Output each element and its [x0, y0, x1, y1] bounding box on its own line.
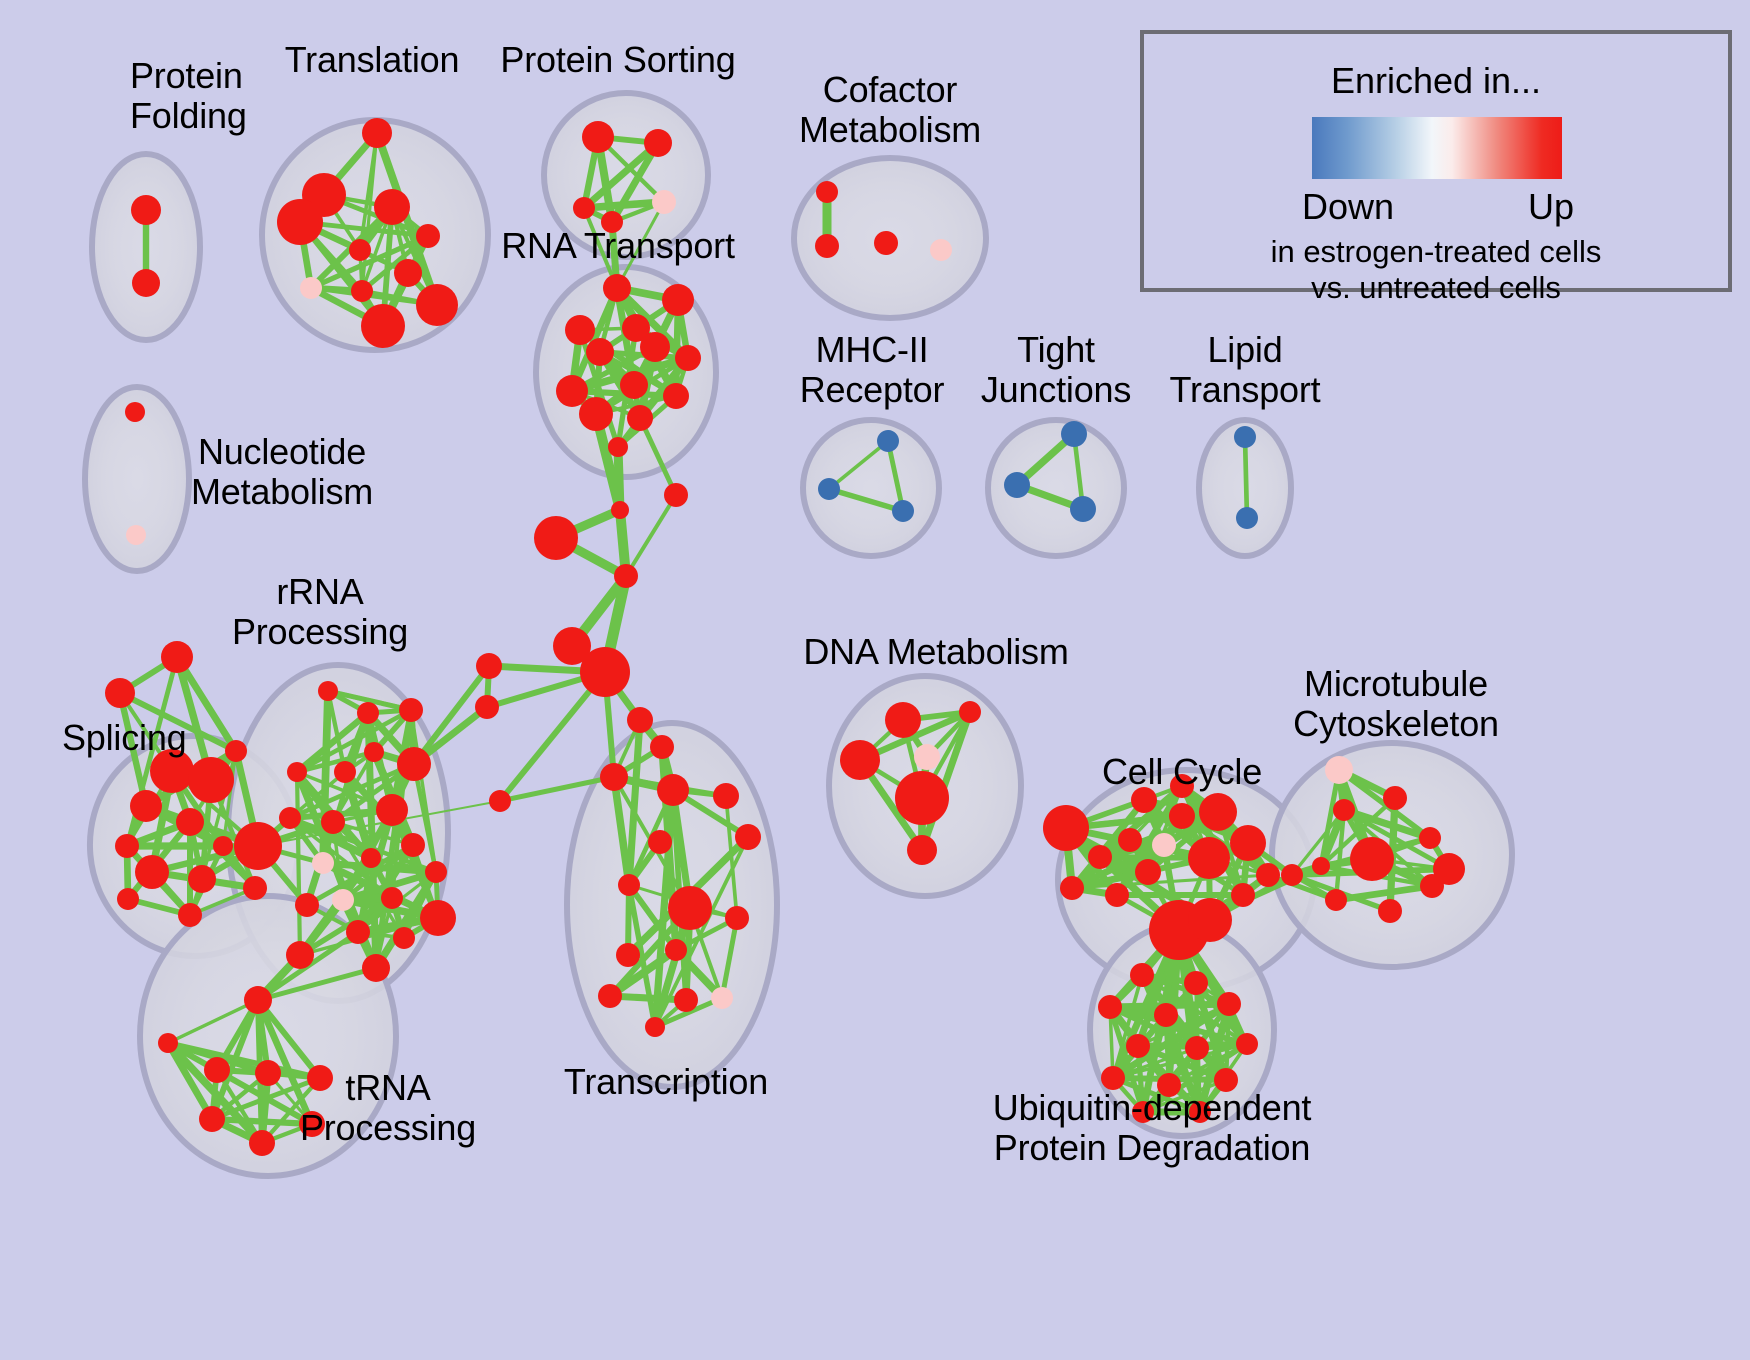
- network-node-rna-transport[interactable]: [675, 345, 701, 371]
- network-node-cell-cycle[interactable]: [1188, 837, 1230, 879]
- network-node-transcription[interactable]: [618, 874, 640, 896]
- network-node-splicing[interactable]: [234, 822, 282, 870]
- cluster-label-microtubule-cytoskeleton: Microtubule Cytoskeleton: [1293, 664, 1499, 745]
- network-node-tight-junctions[interactable]: [1061, 421, 1087, 447]
- network-node-transcription[interactable]: [657, 774, 689, 806]
- cluster-label-splicing: Splicing: [62, 718, 186, 758]
- network-node-rrna-processing[interactable]: [332, 889, 354, 911]
- network-node-ubiquitin-protein-degradation[interactable]: [1130, 963, 1154, 987]
- network-node-transcription[interactable]: [674, 988, 698, 1012]
- network-node-transcription[interactable]: [598, 984, 622, 1008]
- network-node-mhc-ii-receptor[interactable]: [892, 500, 914, 522]
- cluster-label-tight-junctions: Tight Junctions: [981, 330, 1131, 411]
- cluster-label-protein-sorting: Protein Sorting: [500, 40, 735, 80]
- network-node-lipid-transport[interactable]: [1234, 426, 1256, 448]
- network-node-rrna-processing[interactable]: [286, 941, 314, 969]
- network-node-bridge[interactable]: [534, 516, 578, 560]
- network-node-tight-junctions[interactable]: [1070, 496, 1096, 522]
- cluster-label-mhc-ii-receptor: MHC-II Receptor: [800, 330, 944, 411]
- network-node-translation[interactable]: [394, 259, 422, 287]
- network-node-cofactor-metabolism[interactable]: [816, 181, 838, 203]
- network-node-transcription[interactable]: [648, 830, 672, 854]
- network-figure: Protein FoldingTranslationProtein Sortin…: [0, 0, 1750, 1360]
- network-node-splicing[interactable]: [115, 834, 139, 858]
- network-node-microtubule-cytoskeleton[interactable]: [1350, 837, 1394, 881]
- network-node-microtubule-cytoskeleton[interactable]: [1333, 799, 1355, 821]
- network-node-bridge[interactable]: [475, 695, 499, 719]
- network-node-bridge[interactable]: [489, 790, 511, 812]
- network-node-translation[interactable]: [277, 199, 323, 245]
- network-node-translation[interactable]: [416, 284, 458, 326]
- cluster-label-cofactor-metabolism: Cofactor Metabolism: [799, 70, 981, 151]
- network-node-cell-cycle[interactable]: [1152, 833, 1176, 857]
- network-node-protein-sorting[interactable]: [652, 190, 676, 214]
- network-node-protein-folding[interactable]: [132, 269, 160, 297]
- network-node-trna-processing[interactable]: [244, 986, 272, 1014]
- network-node-cell-cycle[interactable]: [1043, 805, 1089, 851]
- network-node-splicing[interactable]: [188, 757, 234, 803]
- network-node-splicing[interactable]: [178, 903, 202, 927]
- network-node-splicing[interactable]: [188, 865, 216, 893]
- network-node-mhc-ii-receptor[interactable]: [818, 478, 840, 500]
- network-node-cell-cycle[interactable]: [1088, 845, 1112, 869]
- network-node-transcription[interactable]: [725, 906, 749, 930]
- legend-box: Enriched in... Down Up in estrogen-treat…: [1140, 30, 1732, 292]
- network-node-translation[interactable]: [362, 118, 392, 148]
- network-node-rna-transport[interactable]: [556, 375, 588, 407]
- network-node-rrna-processing[interactable]: [318, 681, 338, 701]
- network-node-transcription[interactable]: [713, 783, 739, 809]
- network-node-rrna-processing[interactable]: [425, 861, 447, 883]
- network-node-transcription[interactable]: [600, 763, 628, 791]
- network-node-splicing[interactable]: [117, 888, 139, 910]
- network-node-translation[interactable]: [361, 304, 405, 348]
- cluster-label-rrna-processing: rRNA Processing: [232, 572, 408, 653]
- network-node-cell-cycle[interactable]: [1199, 793, 1237, 831]
- network-node-cell-cycle[interactable]: [1105, 883, 1129, 907]
- network-node-splicing[interactable]: [225, 740, 247, 762]
- network-node-rrna-processing[interactable]: [361, 848, 381, 868]
- network-node-translation[interactable]: [374, 189, 410, 225]
- network-node-splicing[interactable]: [161, 641, 193, 673]
- network-node-ubiquitin-protein-degradation[interactable]: [1217, 992, 1241, 1016]
- network-node-rrna-processing[interactable]: [364, 742, 384, 762]
- network-node-dna-metabolism[interactable]: [840, 740, 880, 780]
- network-node-rrna-processing[interactable]: [312, 852, 334, 874]
- cluster-label-protein-folding: Protein Folding: [130, 56, 247, 137]
- network-node-rrna-processing[interactable]: [381, 887, 403, 909]
- network-node-bridge[interactable]: [614, 564, 638, 588]
- network-node-translation[interactable]: [416, 224, 440, 248]
- network-node-microtubule-cytoskeleton[interactable]: [1419, 827, 1441, 849]
- network-node-splicing[interactable]: [105, 678, 135, 708]
- network-node-rrna-processing[interactable]: [397, 747, 431, 781]
- network-node-cell-cycle[interactable]: [1169, 803, 1195, 829]
- network-node-bridge[interactable]: [580, 647, 630, 697]
- network-node-dna-metabolism[interactable]: [885, 702, 921, 738]
- network-node-microtubule-cytoskeleton[interactable]: [1383, 786, 1407, 810]
- network-node-ubiquitin-protein-degradation[interactable]: [1184, 971, 1208, 995]
- network-node-rrna-processing[interactable]: [401, 833, 425, 857]
- network-node-bridge[interactable]: [611, 501, 629, 519]
- network-node-translation[interactable]: [351, 280, 373, 302]
- network-node-protein-sorting[interactable]: [644, 129, 672, 157]
- cluster-label-trna-processing: tRNA Processing: [300, 1068, 476, 1149]
- cluster-label-lipid-transport: Lipid Transport: [1170, 330, 1321, 411]
- legend-title: Enriched in...: [1144, 60, 1728, 102]
- network-node-rna-transport[interactable]: [579, 397, 613, 431]
- network-node-microtubule-cytoskeleton[interactable]: [1378, 899, 1402, 923]
- network-node-transcription[interactable]: [668, 886, 712, 930]
- legend-caption-line-1: in estrogen-treated cells: [1144, 234, 1728, 270]
- cluster-label-nucleotide-metabolism: Nucleotide Metabolism: [191, 432, 373, 513]
- network-node-transcription[interactable]: [627, 707, 653, 733]
- network-node-nucleotide-metabolism[interactable]: [125, 402, 145, 422]
- network-node-rrna-processing[interactable]: [420, 900, 456, 936]
- cluster-label-rna-transport: RNA Transport: [501, 226, 735, 266]
- network-node-mhc-ii-receptor[interactable]: [877, 430, 899, 452]
- network-node-splicing[interactable]: [243, 876, 267, 900]
- network-node-translation[interactable]: [349, 239, 371, 261]
- network-node-cell-cycle[interactable]: [1256, 863, 1280, 887]
- network-node-trna-processing[interactable]: [158, 1033, 178, 1053]
- network-node-rna-transport[interactable]: [586, 338, 614, 366]
- network-node-dna-metabolism[interactable]: [959, 701, 981, 723]
- network-node-cell-cycle[interactable]: [1118, 828, 1142, 852]
- network-node-microtubule-cytoskeleton[interactable]: [1312, 857, 1330, 875]
- legend-low-label: Down: [1302, 186, 1394, 228]
- network-node-ubiquitin-protein-degradation[interactable]: [1098, 995, 1122, 1019]
- network-node-rna-transport[interactable]: [603, 274, 631, 302]
- network-node-transcription[interactable]: [711, 987, 733, 1009]
- network-node-microtubule-cytoskeleton[interactable]: [1325, 756, 1353, 784]
- network-node-lipid-transport[interactable]: [1236, 507, 1258, 529]
- network-node-rna-transport[interactable]: [640, 332, 670, 362]
- network-node-cell-cycle[interactable]: [1188, 898, 1232, 942]
- network-node-rrna-processing[interactable]: [346, 920, 370, 944]
- network-node-tight-junctions[interactable]: [1004, 472, 1030, 498]
- network-node-splicing[interactable]: [176, 808, 204, 836]
- network-node-dna-metabolism[interactable]: [895, 771, 949, 825]
- network-edge: [1245, 437, 1247, 518]
- network-node-ubiquitin-protein-degradation[interactable]: [1236, 1033, 1258, 1055]
- network-node-ubiquitin-protein-degradation[interactable]: [1185, 1036, 1209, 1060]
- network-node-rna-transport[interactable]: [663, 383, 689, 409]
- network-node-dna-metabolism[interactable]: [914, 744, 940, 770]
- network-node-splicing[interactable]: [213, 836, 233, 856]
- network-node-rna-transport[interactable]: [662, 284, 694, 316]
- network-node-rrna-processing[interactable]: [399, 698, 423, 722]
- network-node-bridge[interactable]: [664, 483, 688, 507]
- network-node-rna-transport[interactable]: [627, 405, 653, 431]
- legend-caption-line-2: vs. untreated cells: [1144, 270, 1728, 306]
- network-node-rna-transport[interactable]: [565, 315, 595, 345]
- network-node-cell-cycle[interactable]: [1135, 859, 1161, 885]
- legend-high-label: Up: [1528, 186, 1574, 228]
- cluster-label-transcription: Transcription: [564, 1062, 768, 1102]
- network-node-transcription[interactable]: [650, 735, 674, 759]
- cluster-label-translation: Translation: [285, 40, 460, 80]
- network-node-splicing[interactable]: [130, 790, 162, 822]
- network-node-rrna-processing[interactable]: [321, 810, 345, 834]
- network-node-cofactor-metabolism[interactable]: [874, 231, 898, 255]
- network-node-splicing[interactable]: [135, 855, 169, 889]
- network-node-cofactor-metabolism[interactable]: [930, 239, 952, 261]
- network-node-microtubule-cytoskeleton[interactable]: [1281, 864, 1303, 886]
- network-node-dna-metabolism[interactable]: [907, 835, 937, 865]
- network-node-ubiquitin-protein-degradation[interactable]: [1126, 1034, 1150, 1058]
- network-node-cofactor-metabolism[interactable]: [815, 234, 839, 258]
- network-node-rrna-processing[interactable]: [357, 702, 379, 724]
- network-node-transcription[interactable]: [616, 943, 640, 967]
- network-node-transcription[interactable]: [645, 1017, 665, 1037]
- network-node-transcription[interactable]: [665, 939, 687, 961]
- network-node-cell-cycle[interactable]: [1060, 876, 1084, 900]
- network-node-protein-folding[interactable]: [131, 195, 161, 225]
- network-node-trna-processing[interactable]: [249, 1130, 275, 1156]
- network-node-trna-processing[interactable]: [255, 1060, 281, 1086]
- network-node-cell-cycle[interactable]: [1231, 883, 1255, 907]
- network-node-rrna-processing[interactable]: [295, 893, 319, 917]
- legend-color-bar: [1312, 117, 1562, 179]
- cluster-label-ubiquitin-protein-degradation: Ubiquitin-dependent Protein Degradation: [993, 1088, 1311, 1169]
- network-node-rrna-processing[interactable]: [279, 807, 301, 829]
- network-node-rna-transport[interactable]: [620, 371, 648, 399]
- network-node-translation[interactable]: [300, 277, 322, 299]
- network-node-transcription[interactable]: [735, 824, 761, 850]
- network-node-rrna-processing[interactable]: [376, 794, 408, 826]
- network-node-rrna-processing[interactable]: [287, 762, 307, 782]
- network-edge: [297, 772, 300, 955]
- cluster-label-dna-metabolism: DNA Metabolism: [803, 632, 1068, 672]
- network-node-rrna-processing[interactable]: [362, 954, 390, 982]
- network-node-protein-sorting[interactable]: [573, 197, 595, 219]
- network-node-protein-sorting[interactable]: [582, 121, 614, 153]
- network-node-rrna-processing[interactable]: [334, 761, 356, 783]
- network-node-rrna-processing[interactable]: [393, 927, 415, 949]
- network-node-trna-processing[interactable]: [204, 1057, 230, 1083]
- network-edge: [626, 495, 676, 576]
- network-node-rna-transport[interactable]: [608, 437, 628, 457]
- network-node-bridge[interactable]: [476, 653, 502, 679]
- network-node-trna-processing[interactable]: [199, 1106, 225, 1132]
- network-node-microtubule-cytoskeleton[interactable]: [1325, 889, 1347, 911]
- network-node-microtubule-cytoskeleton[interactable]: [1433, 853, 1465, 885]
- cluster-label-cell-cycle: Cell Cycle: [1102, 752, 1262, 792]
- network-node-ubiquitin-protein-degradation[interactable]: [1154, 1003, 1178, 1027]
- network-node-nucleotide-metabolism[interactable]: [126, 525, 146, 545]
- network-node-cell-cycle[interactable]: [1230, 825, 1266, 861]
